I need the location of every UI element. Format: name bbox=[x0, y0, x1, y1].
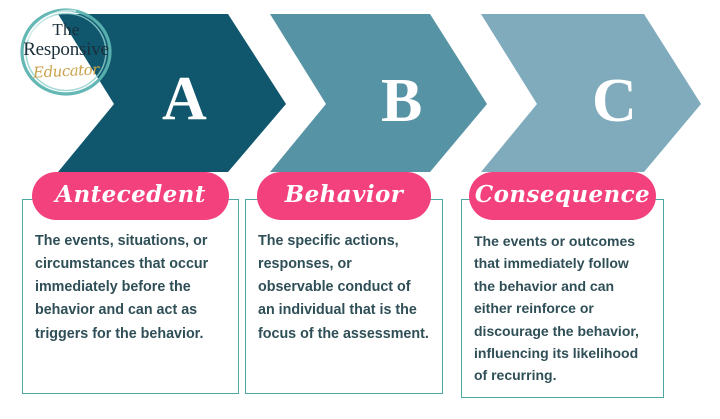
arrow-letter-a: A bbox=[162, 68, 207, 130]
step-column-behavior: Behavior The specific actions, responses… bbox=[245, 172, 443, 394]
arrow-letter-b: B bbox=[381, 70, 422, 132]
step-description-text-antecedent: The events, situations, or circumstances… bbox=[35, 230, 226, 346]
step-description-box-consequence: The events or outcomes that immediately … bbox=[461, 199, 664, 398]
step-column-antecedent: Antecedent The events, situations, or ci… bbox=[22, 172, 239, 394]
logo-line-responsive: Responsive bbox=[11, 39, 121, 61]
step-label-antecedent[interactable]: Antecedent bbox=[32, 172, 229, 220]
arrow-shape-c bbox=[481, 14, 701, 172]
brand-logo: The Responsive Educator bbox=[14, 6, 118, 98]
logo-line-the: The bbox=[14, 20, 118, 40]
step-description-box-behavior: The specific actions, responses, or obse… bbox=[245, 199, 443, 394]
infographic-canvas: A B C The Responsive Educator Antecedent… bbox=[0, 0, 720, 419]
step-description-box-antecedent: The events, situations, or circumstances… bbox=[22, 199, 239, 394]
arrow-shape-b bbox=[270, 14, 487, 172]
step-description-text-consequence: The events or outcomes that immediately … bbox=[474, 230, 651, 387]
step-label-behavior[interactable]: Behavior bbox=[257, 172, 431, 220]
arrow-letter-c: C bbox=[592, 70, 637, 132]
step-column-consequence: Consequence The events or outcomes that … bbox=[461, 172, 664, 398]
step-description-text-behavior: The specific actions, responses, or obse… bbox=[258, 230, 430, 346]
step-label-consequence[interactable]: Consequence bbox=[469, 172, 656, 220]
